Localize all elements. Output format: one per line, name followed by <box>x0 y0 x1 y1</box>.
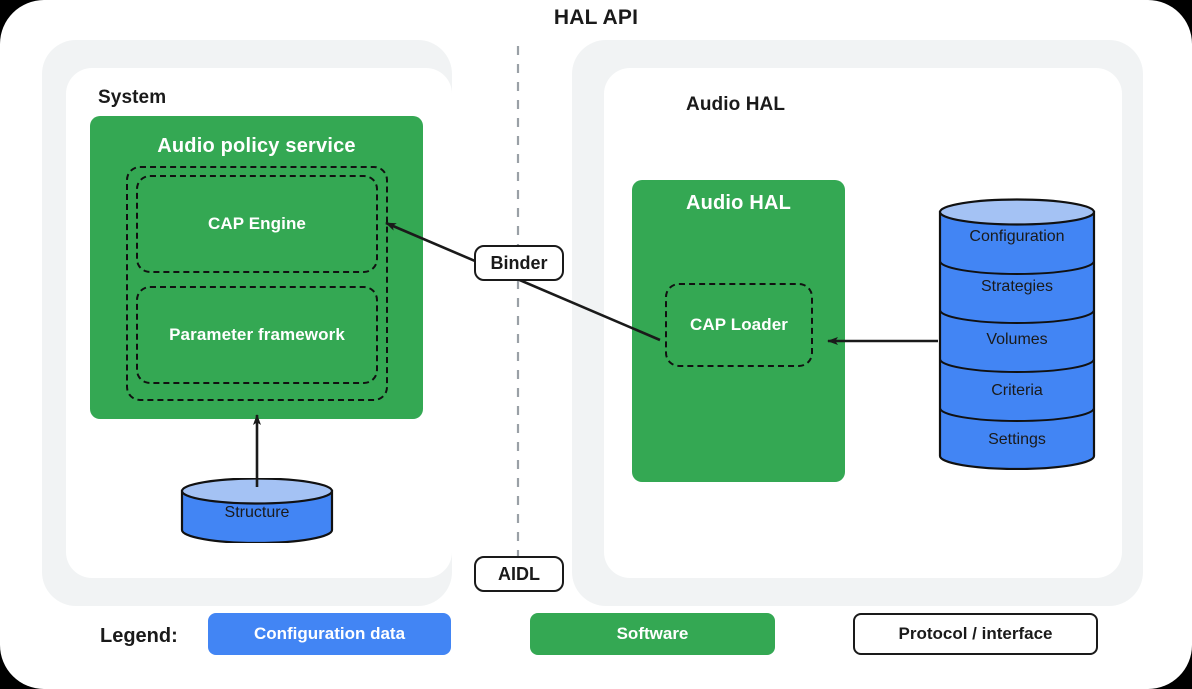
protocol-pill-binder[interactable]: Binder <box>474 245 564 281</box>
datastore-configuration: Configuration Strategies Volumes Criteri… <box>938 198 1096 470</box>
block-audio-policy-service-label: Audio policy service <box>90 135 423 158</box>
legend: Legend: Configuration data Software Prot… <box>0 613 1192 663</box>
block-cap-engine: CAP Engine <box>136 175 378 273</box>
datastore-structure: Structure <box>180 478 334 543</box>
protocol-pill-aidl[interactable]: AIDL <box>474 556 564 592</box>
legend-title: Legend: <box>100 625 178 648</box>
legend-item-configuration-data: Configuration data <box>208 613 451 655</box>
block-cap-loader-label: CAP Loader <box>667 315 811 335</box>
block-parameter-framework-label: Parameter framework <box>138 325 376 345</box>
block-cap-loader: CAP Loader <box>665 283 813 367</box>
configuration-cylinder-icon <box>938 198 1096 470</box>
block-audio-policy-service: Audio policy service CAP Engine Paramete… <box>90 116 423 419</box>
legend-item-software: Software <box>530 613 775 655</box>
legend-item-protocol-interface: Protocol / interface <box>853 613 1098 655</box>
page-title: HAL API <box>0 6 1192 30</box>
diagram-canvas: HAL API System Audio policy service CAP … <box>0 0 1192 689</box>
heading-system: System <box>98 87 166 109</box>
block-audio-hal: Audio HAL CAP Loader <box>632 180 845 482</box>
structure-cylinder-icon <box>180 478 334 543</box>
heading-audio-hal: Audio HAL <box>686 94 785 116</box>
block-audio-hal-label: Audio HAL <box>632 192 845 215</box>
block-parameter-framework: Parameter framework <box>136 286 378 384</box>
block-cap-engine-label: CAP Engine <box>138 214 376 234</box>
